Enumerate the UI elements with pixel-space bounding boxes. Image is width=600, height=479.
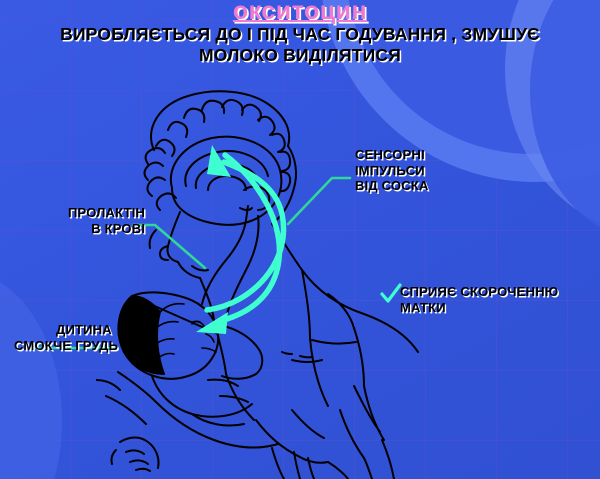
subtitle: ВИРОБЛЯЄТЬСЯ ДО І ПІД ЧАС ГОДУВАННЯ , ЗМ… bbox=[0, 24, 600, 66]
annotation-sensory-line-3: ВІД СОСКА bbox=[355, 178, 429, 194]
annotation-baby-line-1: ДИТИНА bbox=[14, 322, 118, 338]
subtitle-line-1: ВИРОБЛЯЄТЬСЯ ДО І ПІД ЧАС ГОДУВАННЯ , ЗМ… bbox=[60, 24, 540, 44]
check-icon bbox=[380, 283, 402, 305]
annotation-uterus-line-1: СПРИЯЄ СКОРОЧЕННЮ bbox=[400, 284, 558, 300]
annotation-baby-suckling: ДИТИНА СМОКЧЕ ГРУДЬ bbox=[14, 322, 118, 353]
slide-canvas: окситоцин ВИРОБЛЯЄТЬСЯ ДО І ПІД ЧАС ГОДУ… bbox=[0, 0, 600, 479]
annotation-prolactin: ПРОЛАКТІН В КРОВІ bbox=[68, 205, 145, 236]
annotation-sensory-line-2: ІМПУЛЬСИ bbox=[355, 163, 429, 179]
breastfeeding-diagram bbox=[96, 80, 436, 479]
page-title: окситоцин bbox=[0, 0, 600, 26]
annotation-sensory-line-1: СЕНСОРНІ bbox=[355, 147, 429, 163]
annotation-baby-line-2: СМОКЧЕ ГРУДЬ bbox=[14, 338, 118, 354]
page-title-text: окситоцин bbox=[233, 0, 367, 25]
annotation-sensory-impulses: СЕНСОРНІ ІМПУЛЬСИ ВІД СОСКА bbox=[355, 147, 429, 194]
subtitle-line-2: МОЛОКО ВИДІЛЯТИСЯ bbox=[0, 45, 600, 66]
annotation-prolactin-line-1: ПРОЛАКТІН bbox=[68, 205, 145, 221]
annotation-uterus-line-2: МАТКИ bbox=[400, 300, 558, 316]
annotation-uterus-contraction: СПРИЯЄ СКОРОЧЕННЮ МАТКИ bbox=[400, 284, 558, 315]
annotation-prolactin-line-2: В КРОВІ bbox=[68, 221, 145, 237]
